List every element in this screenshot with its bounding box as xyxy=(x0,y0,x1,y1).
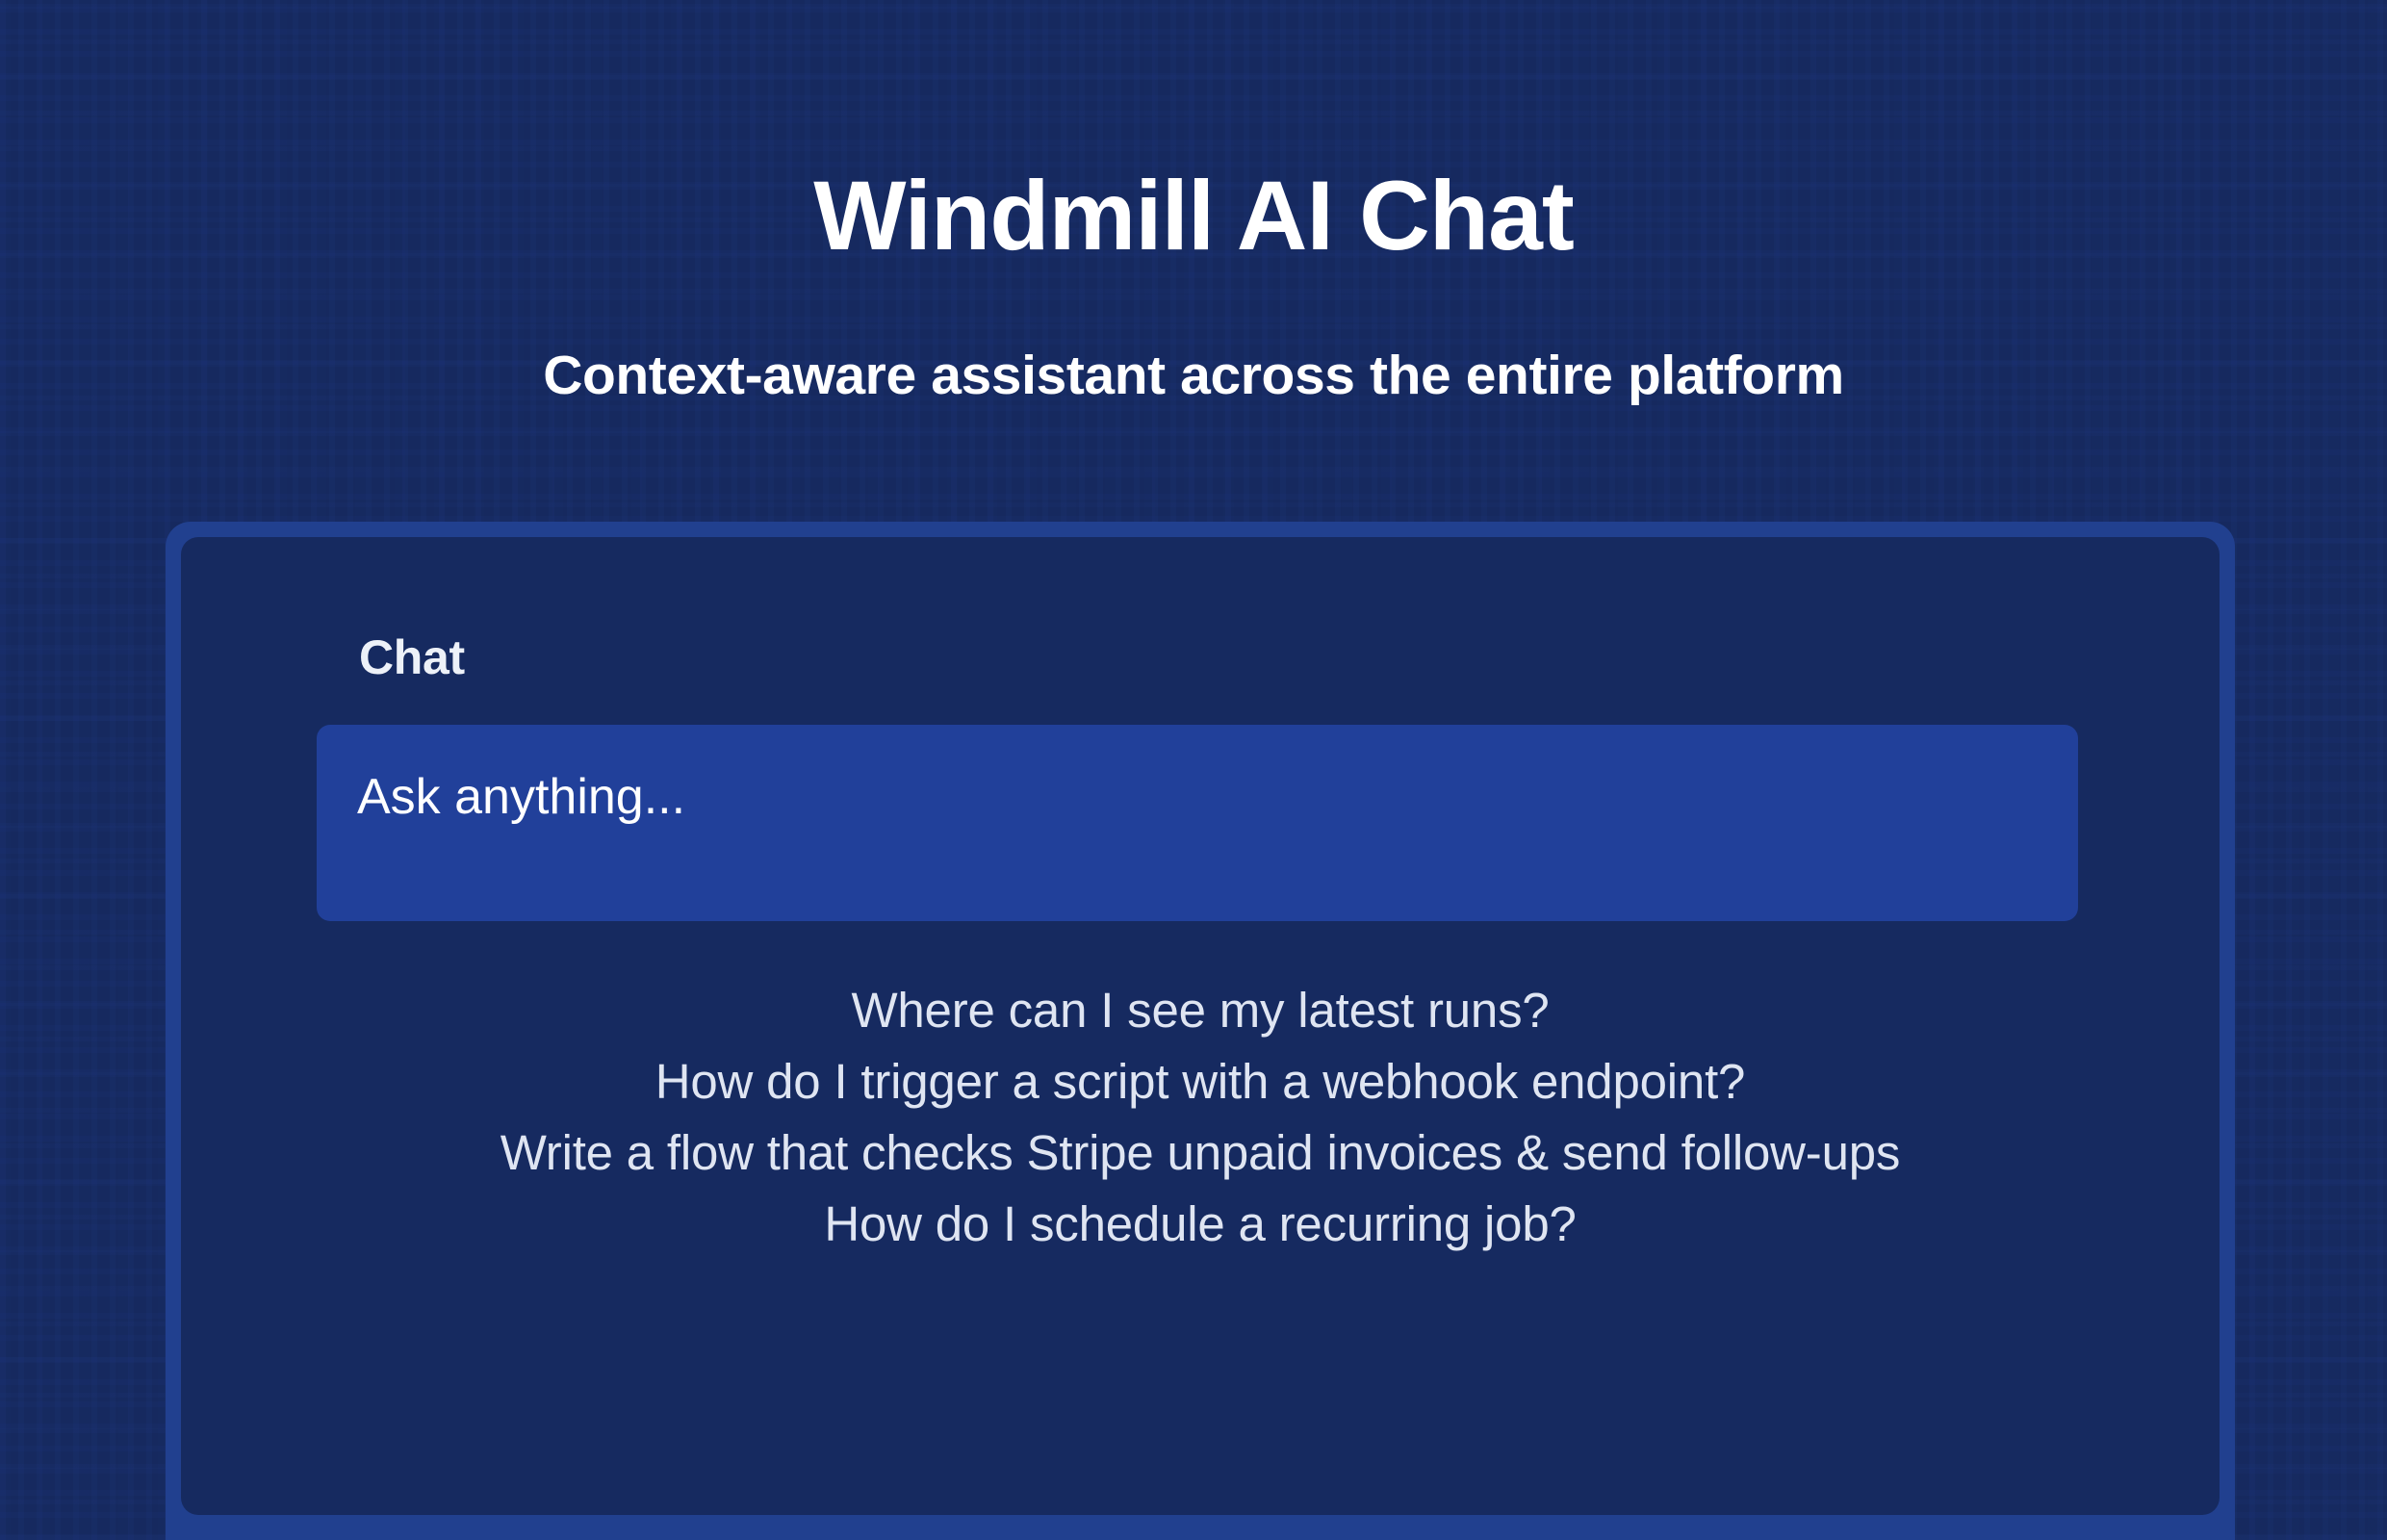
suggestion-item[interactable]: How do I trigger a script with a webhook… xyxy=(655,1046,1745,1117)
chat-card: Chat Where can I see my latest runs? How… xyxy=(166,522,2235,1540)
suggestion-list: Where can I see my latest runs? How do I… xyxy=(181,975,2220,1260)
chat-input[interactable] xyxy=(317,725,2078,921)
chat-panel: Chat Where can I see my latest runs? How… xyxy=(181,537,2220,1515)
suggestion-item[interactable]: How do I schedule a recurring job? xyxy=(824,1189,1576,1260)
chat-panel-title: Chat xyxy=(359,629,465,685)
page-subtitle: Context-aware assistant across the entir… xyxy=(0,345,2387,408)
suggestion-item[interactable]: Where can I see my latest runs? xyxy=(851,975,1549,1046)
suggestion-item[interactable]: Write a flow that checks Stripe unpaid i… xyxy=(500,1117,1900,1189)
ai-chat-page: Windmill AI Chat Context-aware assistant… xyxy=(0,0,2387,1540)
page-title: Windmill AI Chat xyxy=(0,162,2387,269)
